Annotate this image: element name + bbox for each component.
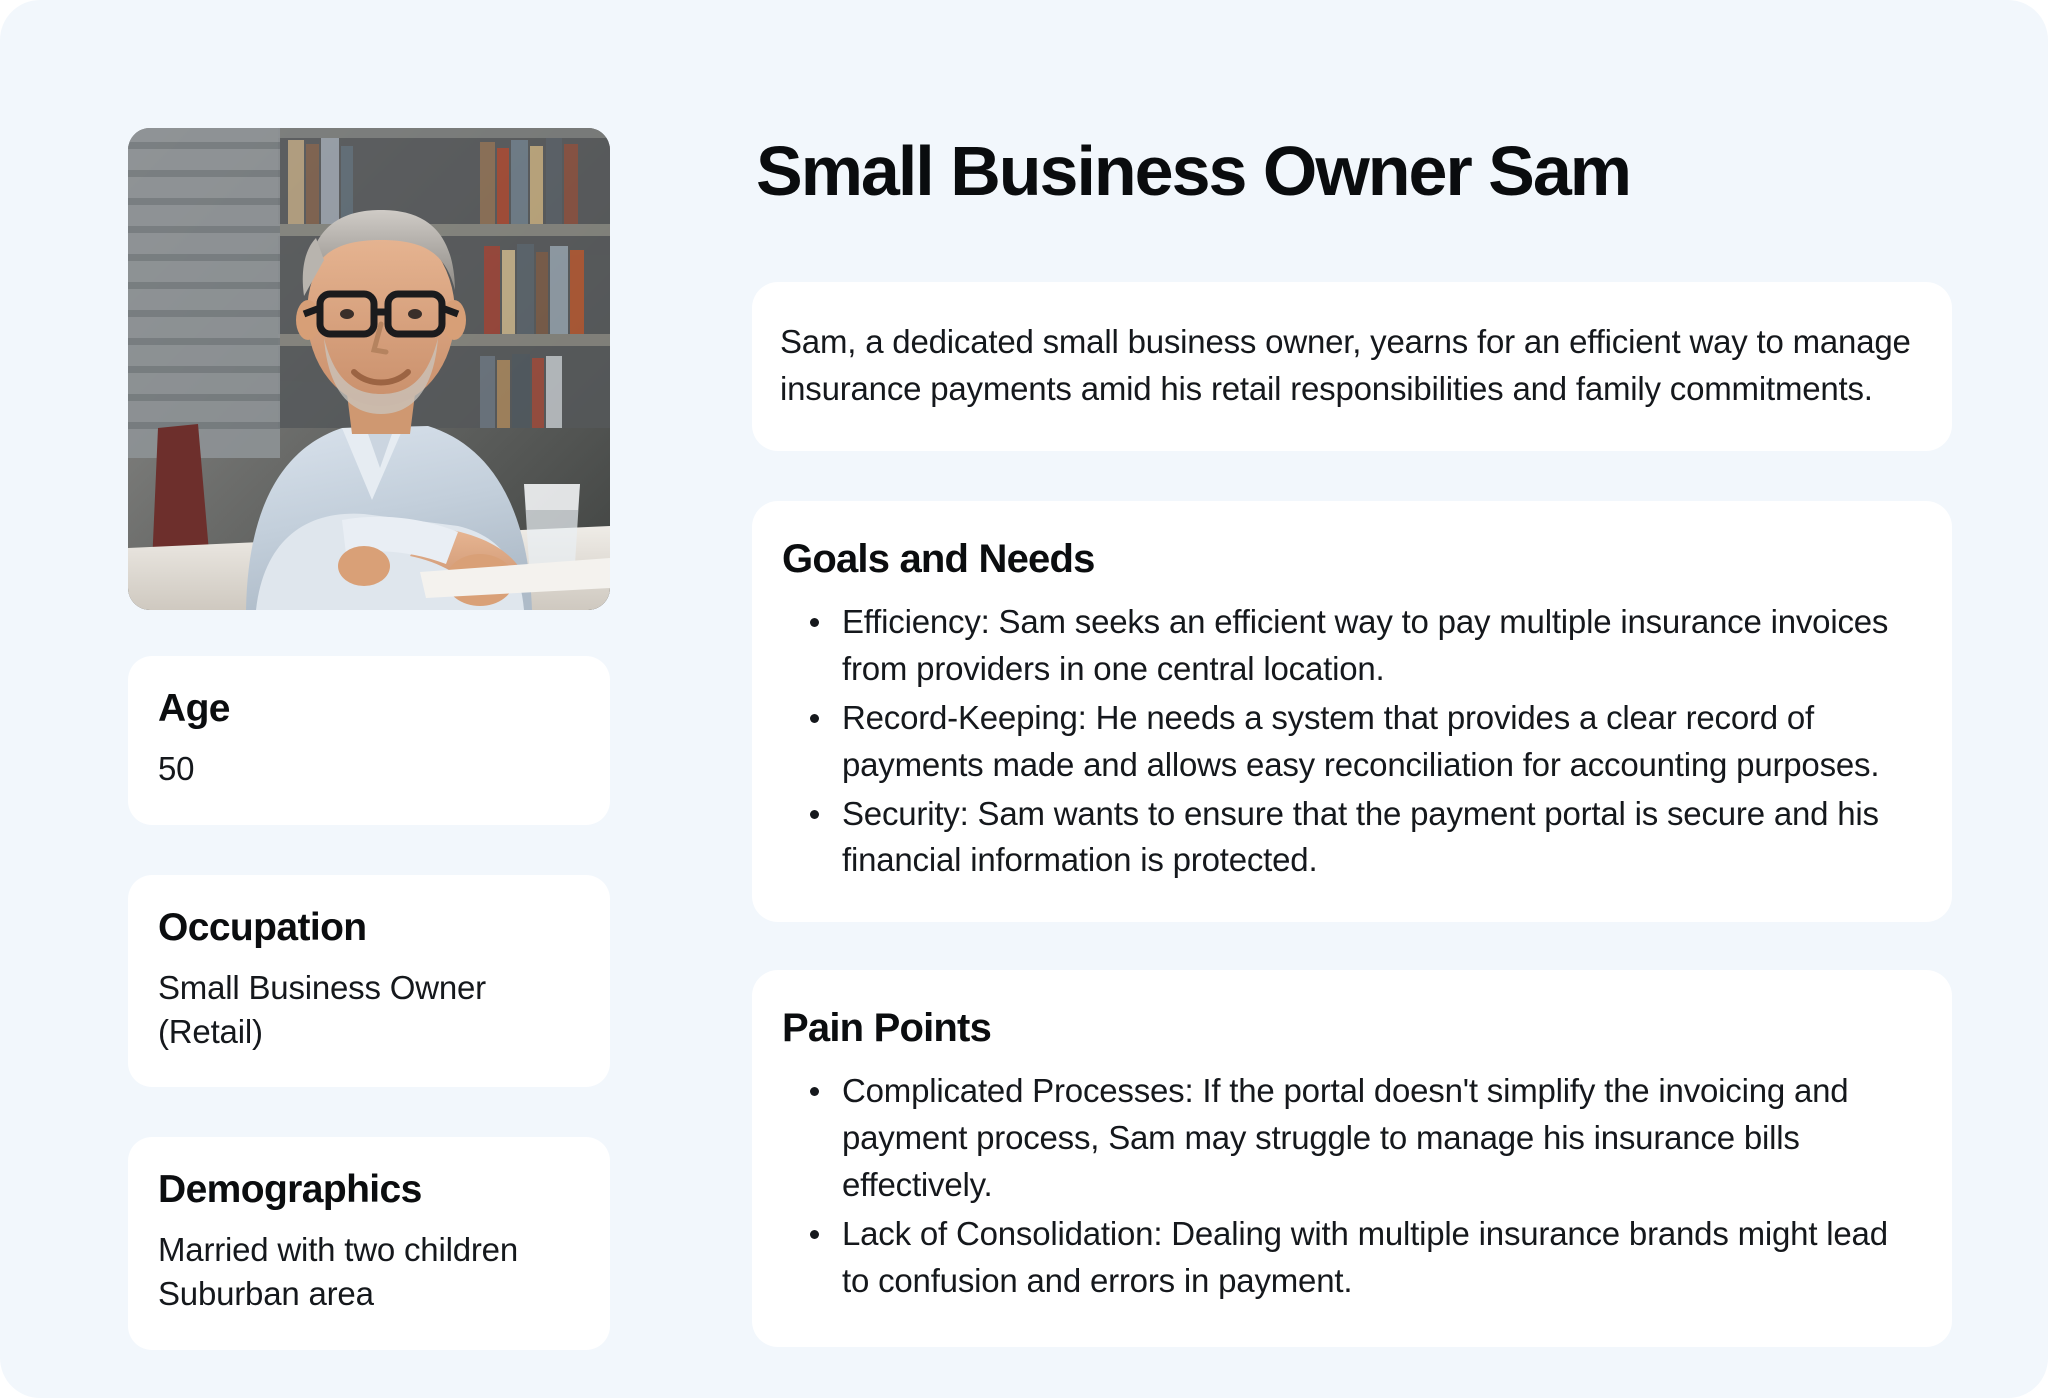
pain-points-list: Complicated Processes: If the portal doe…: [780, 1068, 1916, 1304]
persona-sidebar: Age 50 Occupation Small Business Owner (…: [128, 128, 610, 1350]
avatar-photo: [128, 128, 610, 610]
list-item: Lack of Consolidation: Dealing with mult…: [842, 1211, 1916, 1305]
info-card-occupation-label: Occupation: [158, 907, 580, 950]
info-card-demographics-label: Demographics: [158, 1169, 580, 1212]
list-item: Efficiency: Sam seeks an efficient way t…: [842, 599, 1916, 693]
persona-page: Age 50 Occupation Small Business Owner (…: [0, 0, 2048, 1398]
avatar: [128, 128, 610, 610]
persona-layout: Age 50 Occupation Small Business Owner (…: [128, 128, 1952, 1338]
goals-list: Efficiency: Sam seeks an efficient way t…: [780, 599, 1916, 884]
list-item: Complicated Processes: If the portal doe…: [842, 1068, 1916, 1209]
summary-card: Sam, a dedicated small business owner, y…: [752, 282, 1952, 452]
pain-points-card: Pain Points Complicated Processes: If th…: [752, 970, 1952, 1346]
info-card-demographics-value: Married with two children Suburban area: [158, 1228, 580, 1316]
pain-points-title: Pain Points: [782, 1006, 1916, 1050]
info-card-age: Age 50: [128, 656, 610, 825]
list-item: Record-Keeping: He needs a system that p…: [842, 695, 1916, 789]
info-card-age-value: 50: [158, 747, 580, 791]
summary-text: Sam, a dedicated small business owner, y…: [780, 318, 1916, 414]
info-card-age-label: Age: [158, 688, 580, 731]
info-card-occupation-value: Small Business Owner (Retail): [158, 966, 580, 1054]
persona-main: Small Business Owner Sam Sam, a dedicate…: [752, 128, 1952, 1347]
info-card-demographics: Demographics Married with two children S…: [128, 1137, 610, 1350]
goals-card: Goals and Needs Efficiency: Sam seeks an…: [752, 501, 1952, 922]
page-title: Small Business Owner Sam: [756, 135, 1952, 209]
info-card-occupation: Occupation Small Business Owner (Retail): [128, 875, 610, 1088]
list-item: Security: Sam wants to ensure that the p…: [842, 791, 1916, 885]
goals-title: Goals and Needs: [782, 537, 1916, 581]
